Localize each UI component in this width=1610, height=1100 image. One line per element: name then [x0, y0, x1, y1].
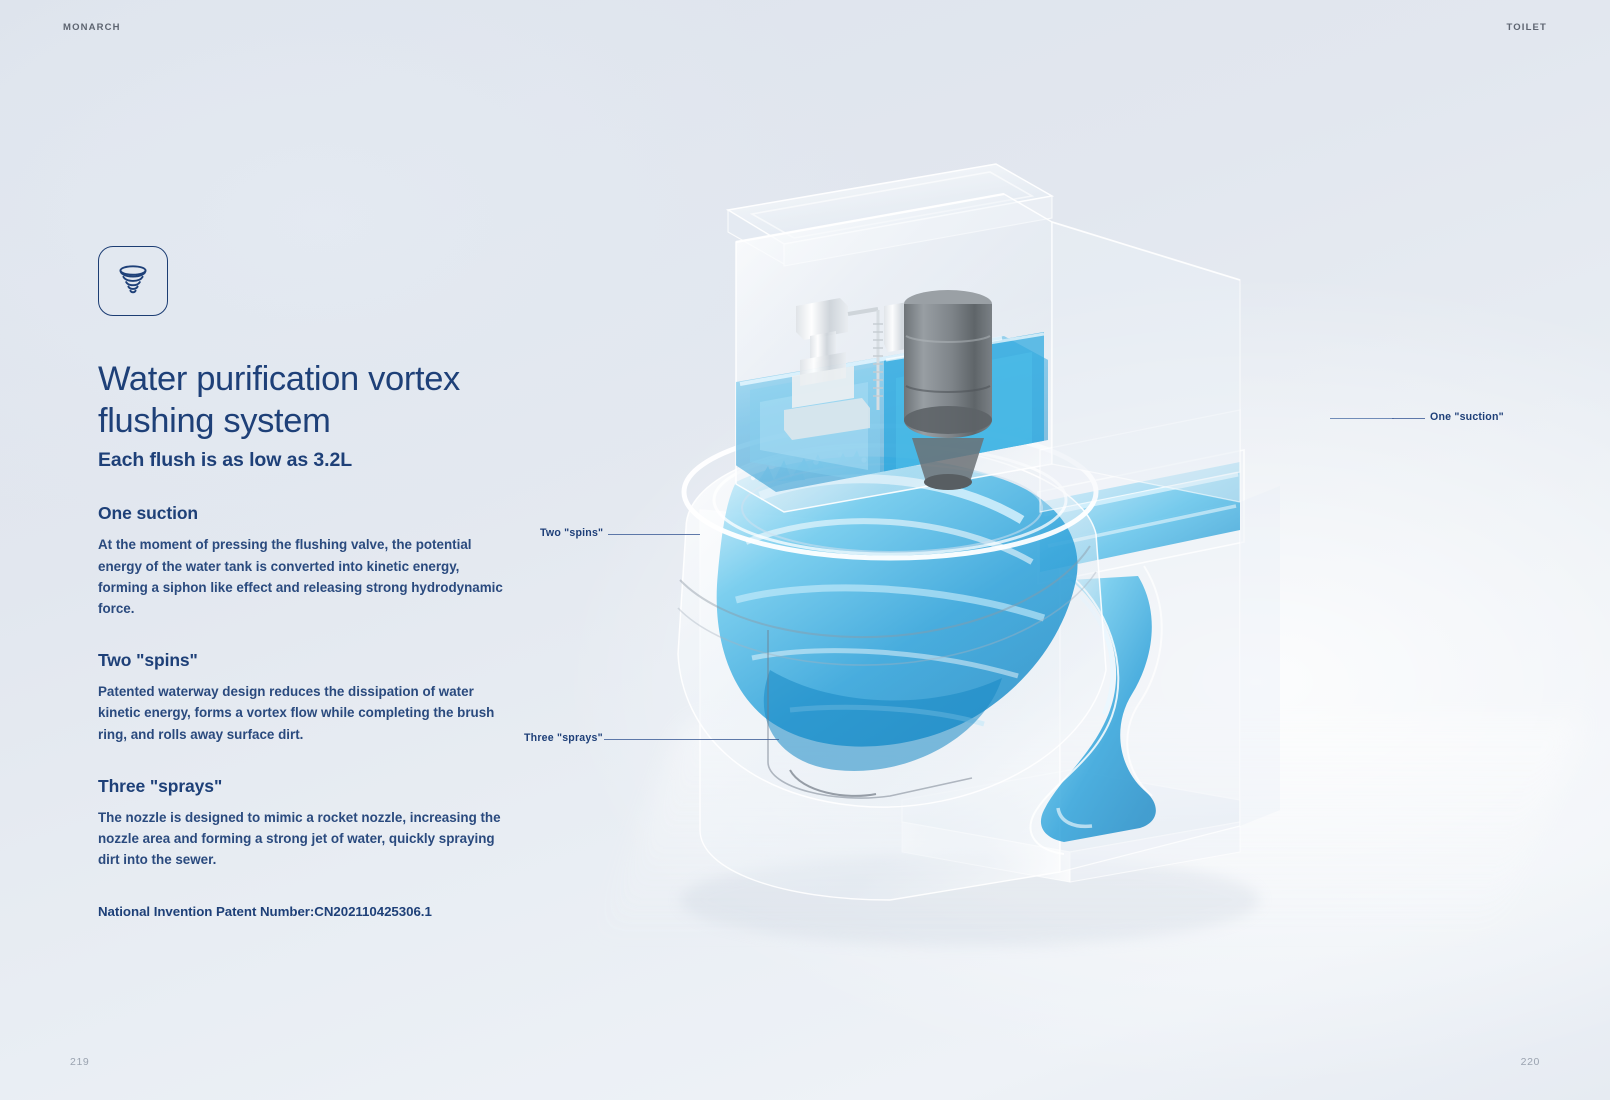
- callout-three-sprays: Three "sprays": [524, 732, 603, 744]
- page-title: Water purification vortex flushing syste…: [98, 359, 518, 442]
- feature-title: Two "spins": [98, 650, 518, 671]
- feature-body: At the moment of pressing the flushing v…: [98, 534, 503, 619]
- vortex-icon: [113, 261, 153, 301]
- feature-body: Patented waterway design reduces the dis…: [98, 681, 503, 745]
- feature-block-one-suction: One suction At the moment of pressing th…: [98, 503, 518, 619]
- feature-title: One suction: [98, 503, 518, 524]
- folio-left: 219: [70, 1056, 89, 1068]
- feature-body: The nozzle is designed to mimic a rocket…: [98, 807, 503, 871]
- feature-title: Three "sprays": [98, 776, 518, 797]
- floor-reflection: [555, 720, 1584, 1040]
- vortex-icon-badge: [98, 246, 168, 316]
- toilet-cutaway-illustration: [640, 110, 1440, 970]
- patent-number: National Invention Patent Number:CN20211…: [98, 904, 518, 919]
- text-column: Water purification vortex flushing syste…: [98, 246, 518, 919]
- folio-right: 220: [1521, 1056, 1540, 1068]
- running-head-left: MONARCH: [63, 22, 121, 33]
- leader-line-two-spins: [608, 534, 700, 535]
- page-canvas: MONARCH TOILET 219 220 Water purificatio…: [0, 0, 1610, 1100]
- running-head-right: TOILET: [1506, 22, 1547, 33]
- callout-two-spins: Two "spins": [540, 527, 603, 539]
- feature-block-two-spins: Two "spins" Patented waterway design red…: [98, 650, 518, 745]
- feature-block-three-sprays: Three "sprays" The nozzle is designed to…: [98, 776, 518, 871]
- leader-line-three-sprays: [604, 739, 779, 740]
- page-subtitle: Each flush is as low as 3.2L: [98, 449, 518, 472]
- leader-line-one-suction-inner: [1330, 418, 1394, 419]
- leader-line-one-suction: [1392, 418, 1425, 419]
- callout-one-suction: One "suction": [1430, 411, 1504, 423]
